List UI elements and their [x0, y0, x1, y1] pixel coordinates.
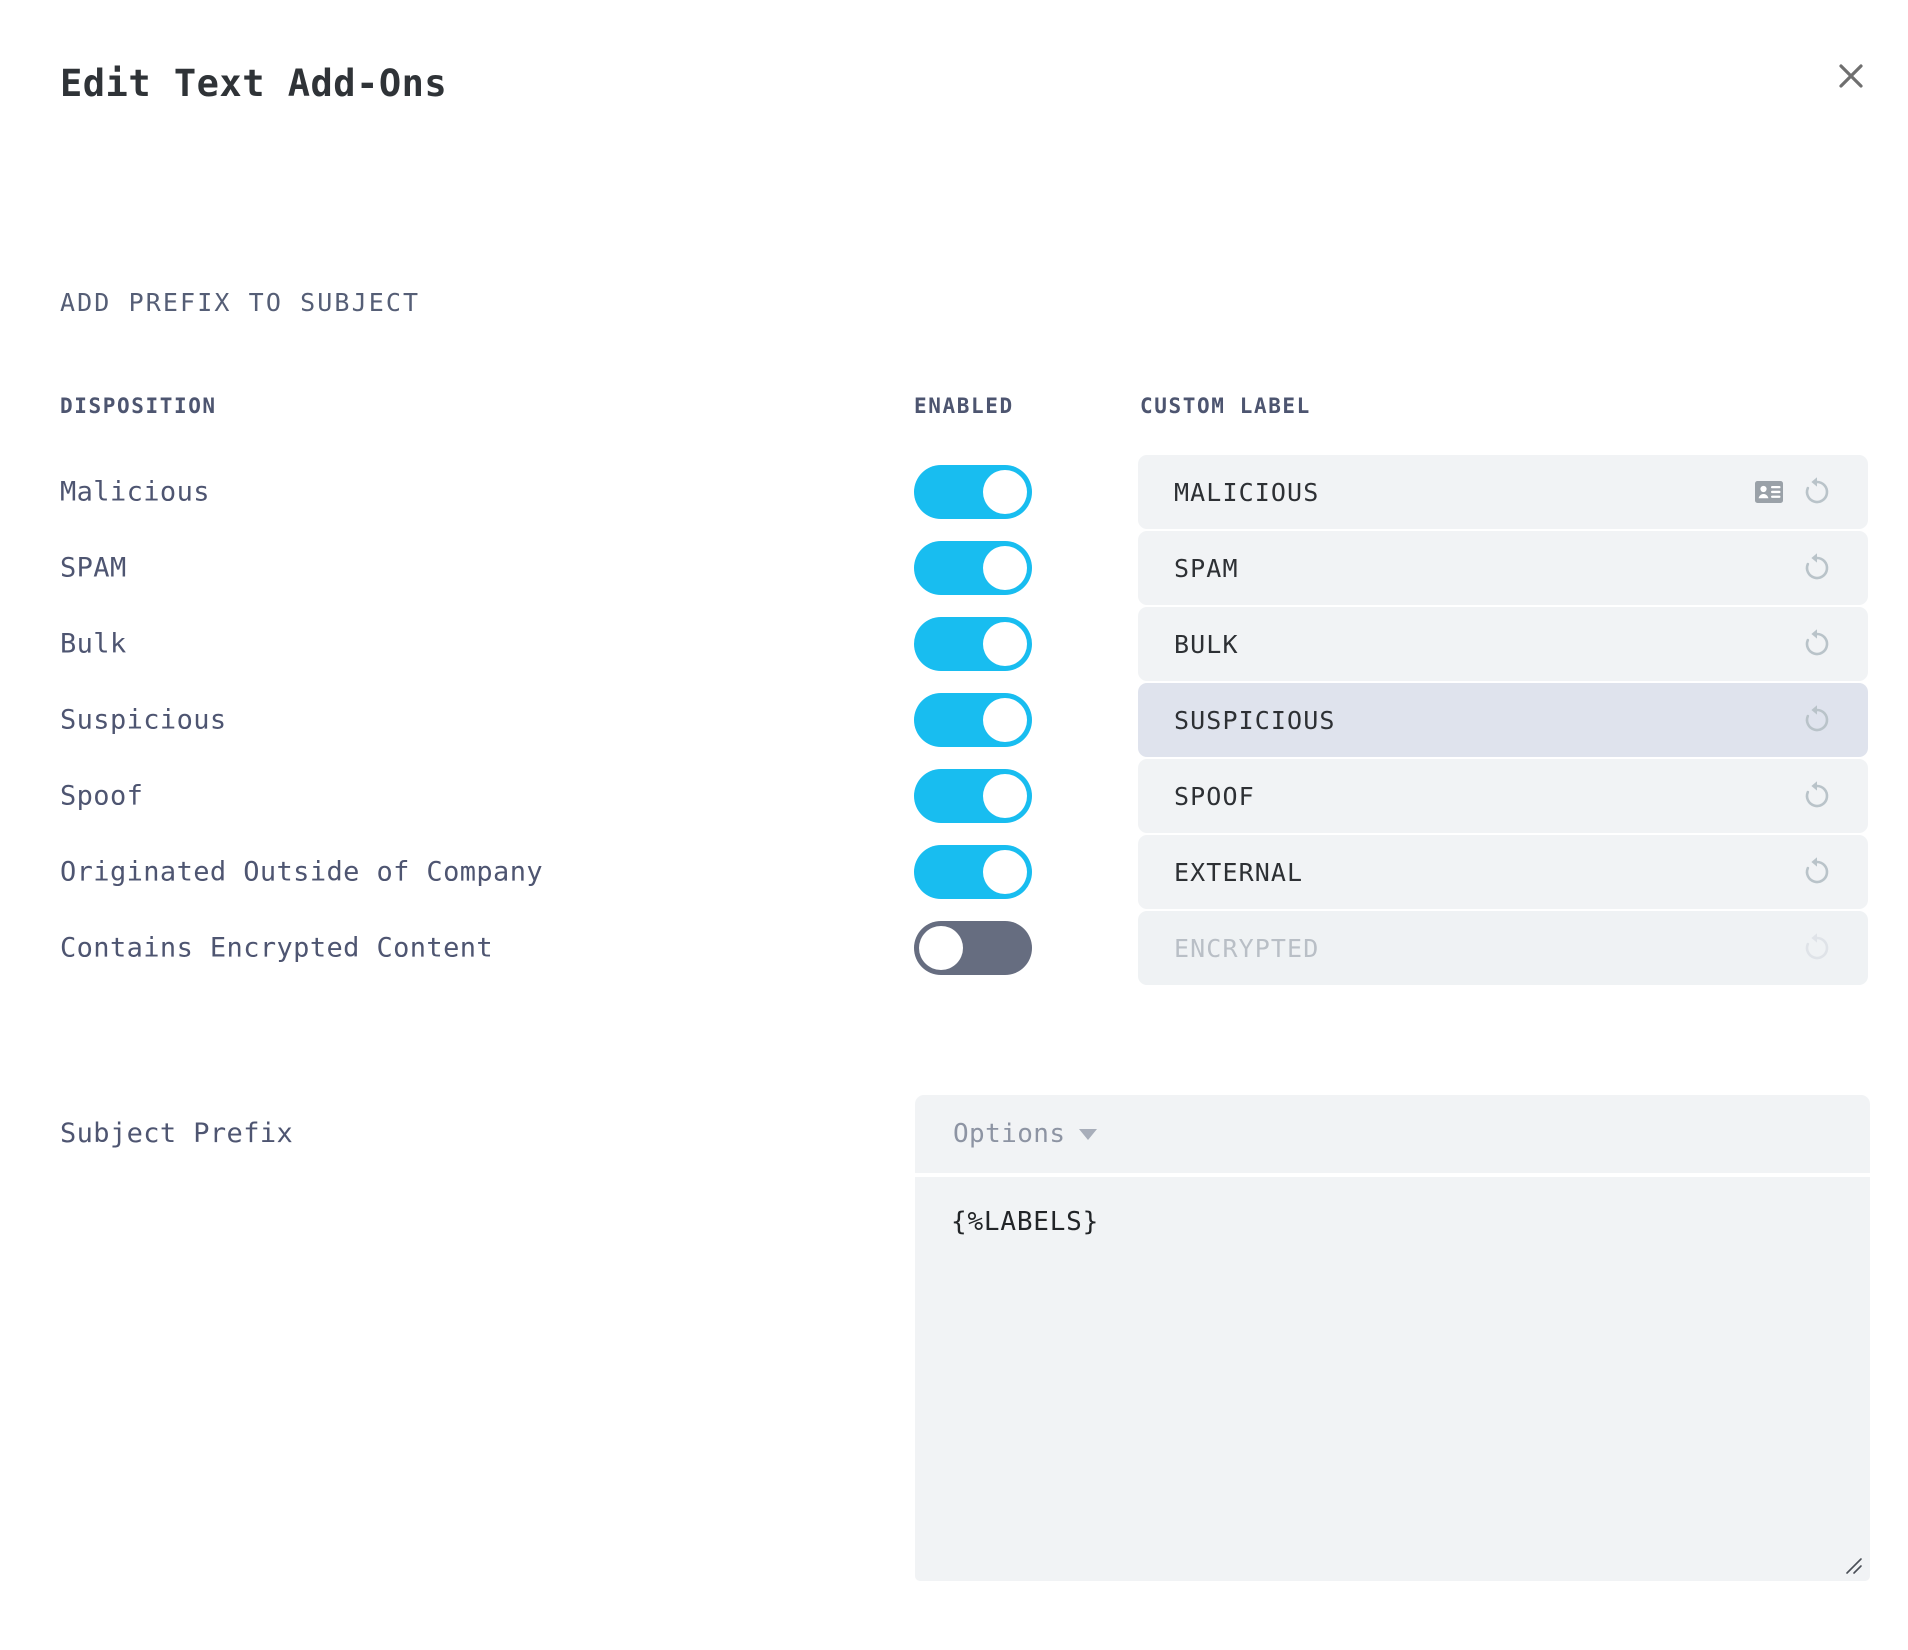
subject-prefix-textarea[interactable]: {%LABELS} [915, 1177, 1870, 1581]
column-header-disposition: DISPOSITION [60, 394, 217, 418]
toggle-knob [983, 622, 1027, 666]
custom-label-input[interactable]: SPOOF [1138, 759, 1868, 833]
reset-icon[interactable] [1800, 779, 1834, 813]
custom-label-value: EXTERNAL [1174, 858, 1800, 887]
custom-label-input[interactable]: MALICIOUS [1138, 455, 1868, 529]
column-header-custom-label: CUSTOM LABEL [1140, 394, 1311, 418]
resize-grip-icon[interactable] [1841, 1553, 1863, 1575]
custom-label-input[interactable]: SPAM [1138, 531, 1868, 605]
disposition-label: Malicious [60, 477, 210, 508]
page-title: Edit Text Add-Ons [60, 62, 447, 105]
disposition-label: Contains Encrypted Content [60, 933, 493, 964]
custom-label-value: SUSPICIOUS [1174, 706, 1800, 735]
custom-label-value: ENCRYPTED [1174, 934, 1800, 963]
options-dropdown-label: Options [953, 1119, 1065, 1149]
contact-card-icon[interactable] [1754, 479, 1784, 505]
options-dropdown[interactable]: Options [915, 1095, 1870, 1173]
field-icon-group [1800, 855, 1834, 889]
subject-prefix-value: {%LABELS} [951, 1207, 1099, 1237]
toggle-knob [919, 926, 963, 970]
section-title: ADD PREFIX TO SUBJECT [60, 288, 420, 317]
custom-label-input[interactable]: EXTERNAL [1138, 835, 1868, 909]
field-icon-group [1800, 779, 1834, 813]
field-icon-group [1800, 551, 1834, 585]
field-icon-group [1800, 627, 1834, 661]
custom-label-value: SPOOF [1174, 782, 1800, 811]
chevron-down-icon [1079, 1129, 1097, 1140]
field-icon-group [1754, 475, 1834, 509]
disposition-label: SPAM [60, 553, 127, 584]
custom-label-value: MALICIOUS [1174, 478, 1754, 507]
toggle-knob [983, 698, 1027, 742]
field-icon-group [1800, 703, 1834, 737]
toggle-knob [983, 470, 1027, 514]
field-icon-group [1800, 931, 1834, 965]
close-icon[interactable] [1826, 51, 1876, 101]
reset-icon[interactable] [1800, 627, 1834, 661]
edit-text-addons-dialog: Edit Text Add-Ons ADD PREFIX TO SUBJECT … [0, 0, 1908, 1650]
enabled-toggle[interactable] [914, 541, 1032, 595]
toggle-knob [983, 546, 1027, 590]
enabled-toggle[interactable] [914, 769, 1032, 823]
disposition-label: Suspicious [60, 705, 227, 736]
custom-label-input: ENCRYPTED [1138, 911, 1868, 985]
reset-icon[interactable] [1800, 703, 1834, 737]
custom-label-value: SPAM [1174, 554, 1800, 583]
custom-label-value: BULK [1174, 630, 1800, 659]
subject-prefix-label: Subject Prefix [60, 1118, 293, 1149]
toggle-knob [983, 774, 1027, 818]
toggle-knob [983, 850, 1027, 894]
reset-icon [1800, 931, 1834, 965]
reset-icon[interactable] [1800, 855, 1834, 889]
custom-label-input[interactable]: BULK [1138, 607, 1868, 681]
disposition-label: Bulk [60, 629, 127, 660]
reset-icon[interactable] [1800, 551, 1834, 585]
enabled-toggle[interactable] [914, 693, 1032, 747]
reset-icon[interactable] [1800, 475, 1834, 509]
disposition-label: Spoof [60, 781, 143, 812]
disposition-row: Contains Encrypted ContentENCRYPTED [0, 902, 1908, 994]
custom-label-input[interactable]: SUSPICIOUS [1138, 683, 1868, 757]
enabled-toggle[interactable] [914, 617, 1032, 671]
enabled-toggle[interactable] [914, 921, 1032, 975]
disposition-label: Originated Outside of Company [60, 857, 543, 888]
column-header-enabled: ENABLED [914, 394, 1014, 418]
enabled-toggle[interactable] [914, 845, 1032, 899]
enabled-toggle[interactable] [914, 465, 1032, 519]
